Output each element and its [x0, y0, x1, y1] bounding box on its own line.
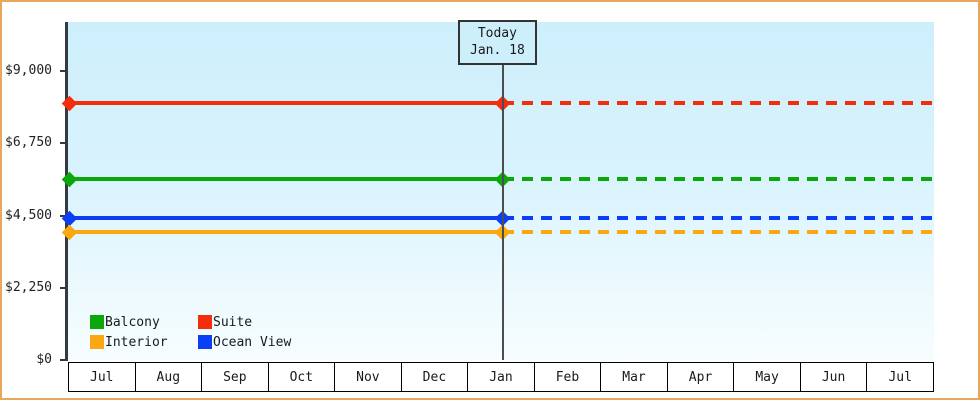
- y-tick-0: [60, 359, 68, 361]
- month-cell-3[interactable]: Oct: [268, 363, 335, 392]
- month-cell-4[interactable]: Nov: [335, 363, 402, 392]
- legend-swatch-suite-icon: [198, 315, 212, 329]
- series-line-balcony-forecast: [503, 177, 934, 181]
- today-vertical-line: [502, 62, 504, 360]
- y-label-4500: $4,500: [5, 209, 52, 222]
- today-date: Jan. 18: [470, 42, 525, 59]
- y-label-6750: $6,750: [5, 136, 52, 149]
- month-axis-table: Jul Aug Sep Oct Nov Dec Jan Feb Mar Apr …: [68, 362, 934, 392]
- legend-label-suite: Suite: [213, 316, 252, 329]
- series-line-ocean-view-solid: [69, 216, 503, 220]
- legend-swatch-balcony-icon: [90, 315, 104, 329]
- y-axis-line: [65, 22, 68, 361]
- y-tick-6750: [60, 142, 68, 144]
- month-cell-2[interactable]: Sep: [202, 363, 269, 392]
- chart-legend: Balcony Suite Interior Ocean View: [90, 312, 291, 352]
- legend-item-balcony[interactable]: Balcony: [90, 312, 198, 332]
- today-annotation-box: Today Jan. 18: [458, 20, 537, 65]
- month-cell-5[interactable]: Dec: [401, 363, 468, 392]
- month-cell-7[interactable]: Feb: [534, 363, 601, 392]
- month-cell-12[interactable]: Jul: [867, 363, 934, 392]
- legend-label-ocean-view: Ocean View: [213, 336, 291, 349]
- today-label: Today: [470, 25, 525, 42]
- series-line-interior-forecast: [503, 230, 934, 234]
- legend-swatch-ocean-view-icon: [198, 335, 212, 349]
- y-tick-2250: [60, 287, 68, 289]
- y-label-2250: $2,250: [5, 281, 52, 294]
- y-label-9000: $9,000: [5, 64, 52, 77]
- month-cell-1[interactable]: Aug: [135, 363, 202, 392]
- month-cell-8[interactable]: Mar: [601, 363, 668, 392]
- month-axis-row: Jul Aug Sep Oct Nov Dec Jan Feb Mar Apr …: [69, 363, 934, 392]
- legend-label-balcony: Balcony: [105, 316, 160, 329]
- month-cell-10[interactable]: May: [734, 363, 801, 392]
- y-tick-9000: [60, 70, 68, 72]
- legend-item-interior[interactable]: Interior: [90, 332, 198, 352]
- month-cell-0[interactable]: Jul: [69, 363, 136, 392]
- series-line-interior-solid: [69, 230, 503, 234]
- plot-area: [68, 22, 934, 360]
- legend-item-suite[interactable]: Suite: [198, 312, 291, 332]
- month-cell-9[interactable]: Apr: [667, 363, 734, 392]
- series-line-suite-solid: [69, 101, 503, 105]
- legend-swatch-interior-icon: [90, 335, 104, 349]
- legend-label-interior: Interior: [105, 336, 168, 349]
- month-cell-6[interactable]: Jan: [468, 363, 535, 392]
- month-cell-11[interactable]: Jun: [800, 363, 867, 392]
- legend-item-ocean-view[interactable]: Ocean View: [198, 332, 291, 352]
- price-history-chart-widget: $9,000 $6,750 $4,500 $2,250 $0 Today Jan…: [0, 0, 980, 400]
- series-line-suite-forecast: [503, 101, 934, 105]
- y-label-0: $0: [36, 353, 52, 366]
- series-line-ocean-view-forecast: [503, 216, 934, 220]
- series-line-balcony-solid: [69, 177, 503, 181]
